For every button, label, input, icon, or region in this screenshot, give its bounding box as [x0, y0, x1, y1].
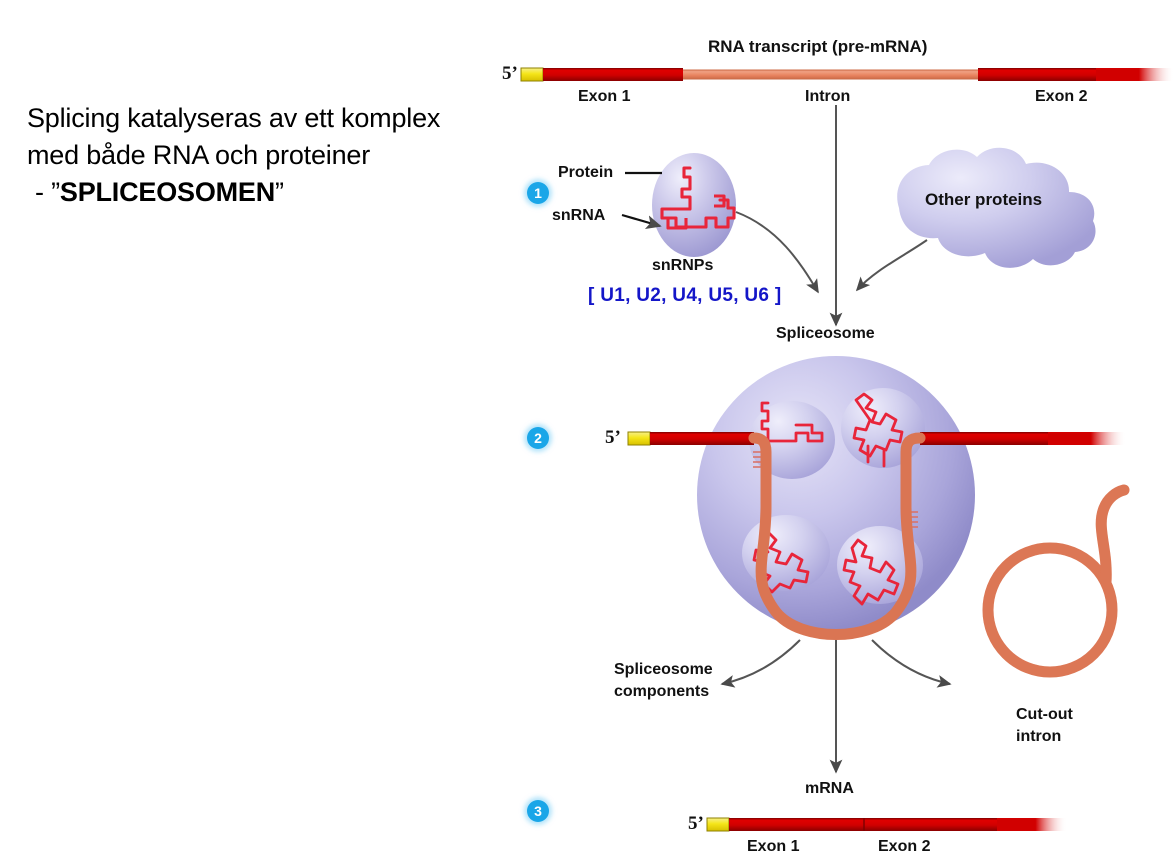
caption-line-3-prefix: - ” [35, 177, 60, 207]
spliceosome-label: Spliceosome [776, 326, 875, 342]
five-prime-cap-top [521, 68, 543, 81]
exon2-segment-top [978, 68, 1098, 81]
step-marker-2: 2 [527, 427, 549, 449]
pre-mrna-bar [521, 68, 1174, 81]
exon2-fade-step2 [1048, 432, 1126, 445]
slide-canvas: Splicing katalyseras av ett komplex med … [0, 0, 1174, 868]
exon2-segment-mrna [864, 818, 999, 831]
five-prime-label-mrna: 5’ [688, 813, 704, 835]
snrna-label: snRNA [552, 208, 605, 224]
u-snrnp-list: [ U1, U2, U4, U5, U6 ] [588, 285, 781, 307]
exon2-fade-mrna [997, 818, 1067, 831]
exon2-arm-step2 [920, 432, 1050, 445]
spliceosome-components-label-line1: Spliceosome [614, 662, 713, 678]
spliceosome-complex [628, 356, 1126, 635]
intron-segment-top [683, 70, 978, 80]
other-proteins-label: Other proteins [925, 191, 1042, 208]
lariat-circle-shade [988, 548, 1112, 672]
exon2-label-mrna: Exon 2 [878, 839, 930, 855]
to-cutout-intron-arrow [872, 640, 950, 684]
step-marker-1: 1 [527, 182, 549, 204]
spliceosome-sphere [697, 356, 975, 634]
lariat-tail-shade [1101, 490, 1124, 582]
intron-label-top: Intron [805, 89, 850, 105]
mrna-label: mRNA [805, 781, 854, 797]
slide-caption: Splicing katalyseras av ett komplex med … [27, 100, 497, 211]
snrnp-to-spliceosome-arrow [736, 212, 818, 292]
caption-line-3-suffix: ” [275, 177, 284, 207]
protein-label: Protein [558, 165, 613, 181]
caption-keyword-spliceosomen: SPLICEOSOMEN [60, 177, 275, 207]
diagram-vector-layer [500, 0, 1174, 868]
spliceosome-diagram: RNA transcript (pre-mRNA) 5’ Exon 1 Intr… [500, 0, 1174, 868]
caption-line-2: med både RNA och proteiner [27, 137, 497, 174]
diagram-title: RNA transcript (pre-mRNA) [708, 38, 927, 55]
five-prime-label-step2: 5’ [605, 427, 621, 449]
exon1-segment-top [543, 68, 683, 81]
cutout-intron-label-line1: Cut-out [1016, 707, 1073, 723]
snrnp-particle-graphic [652, 153, 736, 257]
five-prime-label-top: 5’ [502, 63, 518, 85]
step-marker-3: 3 [527, 800, 549, 822]
cutout-intron-graphic [988, 490, 1124, 672]
five-prime-cap-step2 [628, 432, 650, 445]
exon1-label-top: Exon 1 [578, 89, 630, 105]
exon1-arm-step2 [650, 432, 754, 445]
mature-mrna-bar [707, 818, 1067, 831]
proteins-to-spliceosome-arrow [857, 240, 927, 290]
exon1-label-mrna: Exon 1 [747, 839, 799, 855]
exon2-label-top: Exon 2 [1035, 89, 1087, 105]
exon2-fade-top [1096, 68, 1174, 81]
spliceosome-components-label-line2: components [614, 684, 709, 700]
caption-line-3: - ”SPLICEOSOMEN” [27, 174, 497, 211]
five-prime-cap-mrna [707, 818, 729, 831]
to-spliceosome-components-arrow [722, 640, 800, 684]
exon1-segment-mrna [729, 818, 864, 831]
snrnps-label: snRNPs [652, 258, 713, 274]
cutout-intron-label-line2: intron [1016, 729, 1061, 745]
caption-line-1: Splicing katalyseras av ett komplex [27, 100, 497, 137]
